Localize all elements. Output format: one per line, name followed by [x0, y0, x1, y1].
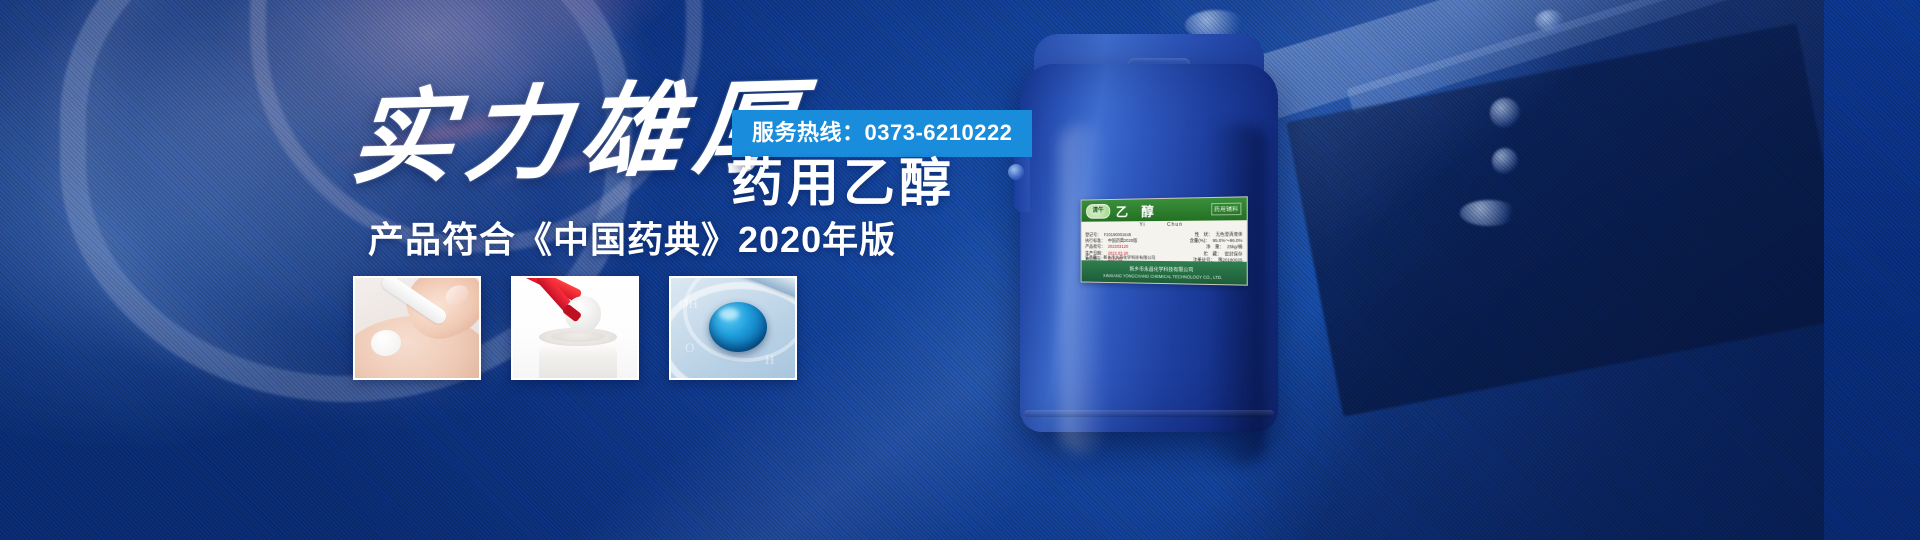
list-item[interactable]: [511, 276, 639, 380]
blue-droplet-shape: [709, 302, 767, 352]
droplet-highlight: [719, 308, 739, 320]
etch-mark-oh: OH: [679, 296, 698, 312]
list-item[interactable]: OH O H: [669, 276, 797, 380]
product-name: 药用乙醇: [731, 158, 955, 210]
promotional-banner: 清牛 乙 醇 药用辅料 Yi Chun 登记号：F20190001645性 状：…: [0, 0, 1920, 540]
jar-shape: [539, 340, 617, 380]
etch-mark-o: O: [685, 340, 694, 356]
skin-application-photo: [355, 278, 479, 378]
list-item[interactable]: [353, 276, 481, 380]
blue-liquid-drop-photo: OH O H: [671, 278, 795, 378]
jar-opening-shape: [551, 331, 605, 342]
etch-mark-h: H: [765, 352, 774, 368]
banner-content: 实力雄厚 服务热线：0373-6210222 药用乙醇 产品符合《中国药典》20…: [0, 0, 1920, 540]
service-hotline-text: 服务热线：0373-6210222: [752, 120, 1012, 145]
pharmacopoeia-standard-line: 产品符合《中国药典》2020年版: [368, 222, 896, 258]
cotton-pad-tweezers-photo: [513, 278, 637, 378]
product-thumbnail-gallery: OH O H: [353, 276, 797, 380]
service-hotline-badge: 服务热线：0373-6210222: [732, 110, 1032, 157]
